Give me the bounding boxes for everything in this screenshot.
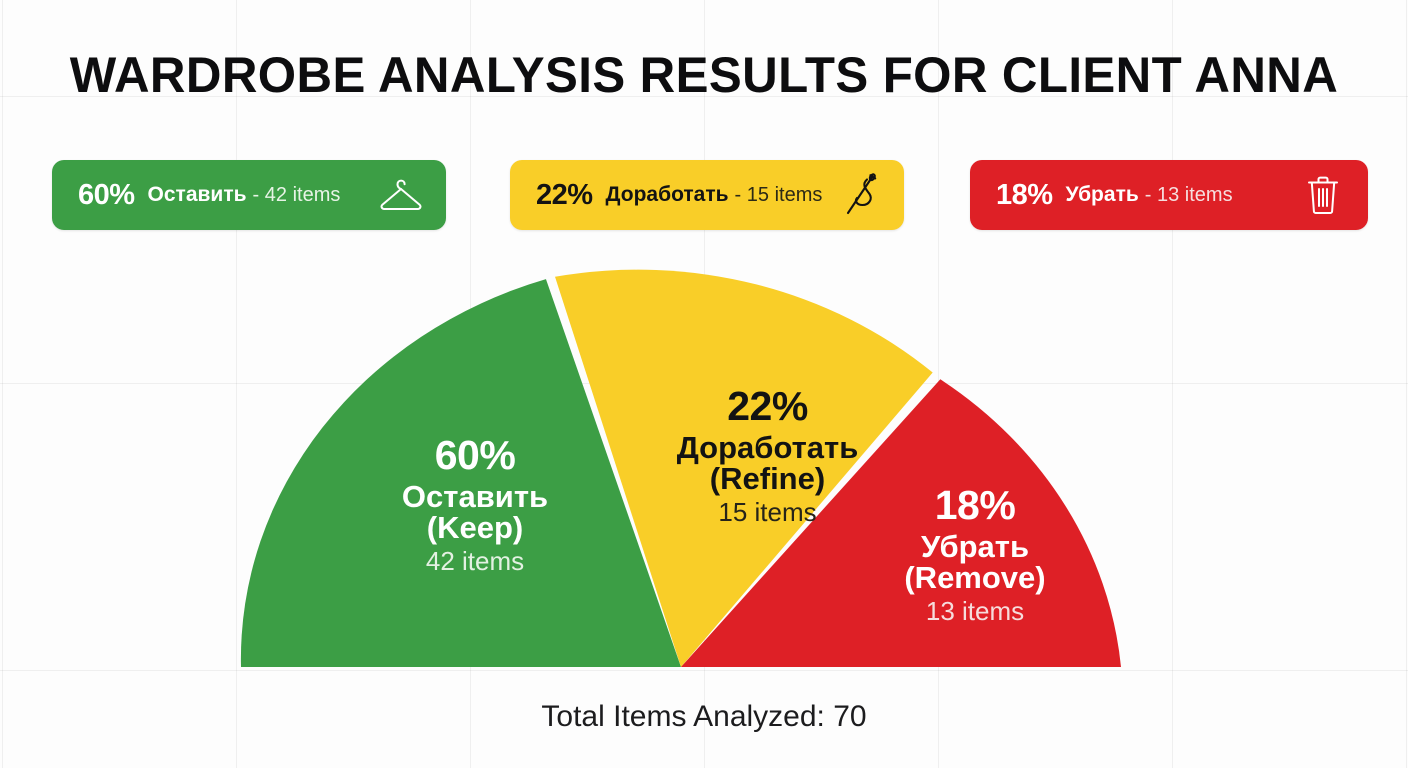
segment-count: 15 items xyxy=(645,499,890,526)
clothes-hanger-icon xyxy=(378,172,424,218)
segment-percent: 60% xyxy=(345,435,605,477)
page-title: WARDROBE ANALYSIS RESULTS FOR CLIENT ANN… xyxy=(11,44,1398,106)
chart-segments xyxy=(241,270,1121,667)
segment-label-refine: 22% Доработать (Refine) 15 items xyxy=(645,386,890,526)
segment-name: Убрать xyxy=(865,531,1085,563)
legend-label: Доработать xyxy=(606,183,729,207)
segment-name: Доработать xyxy=(645,432,890,464)
segment-remove[interactable] xyxy=(681,379,1121,667)
legend-count: - 42 items xyxy=(253,184,341,207)
legend-badge-refine[interactable]: 22% Доработать - 15 items xyxy=(510,160,904,230)
segment-label-remove: 18% Убрать (Remove) 13 items xyxy=(865,485,1085,625)
legend-label: Убрать xyxy=(1066,183,1139,207)
segment-percent: 22% xyxy=(645,386,890,428)
legend: 60% Оставить - 42 items 22% Доработать -… xyxy=(0,160,1408,230)
legend-badge-remove[interactable]: 18% Убрать - 13 items xyxy=(970,160,1368,230)
background-grid xyxy=(0,0,1408,768)
segment-refine[interactable] xyxy=(555,270,933,667)
segment-name-en: (Refine) xyxy=(645,463,890,495)
legend-count: - 13 items xyxy=(1145,184,1233,207)
legend-count: - 15 items xyxy=(735,184,823,207)
needle-and-thread-icon xyxy=(836,172,882,218)
segment-keep[interactable] xyxy=(241,279,681,667)
semicircle-chart: 60% Оставить (Keep) 42 items 22% Доработ… xyxy=(0,0,1408,768)
segment-name-en: (Remove) xyxy=(865,562,1085,594)
segment-count: 42 items xyxy=(345,548,605,575)
trash-bin-icon xyxy=(1300,172,1346,218)
legend-percent: 22% xyxy=(536,179,593,212)
total-items-summary: Total Items Analyzed: 70 xyxy=(0,700,1408,734)
segment-count: 13 items xyxy=(865,598,1085,625)
segment-name: Оставить xyxy=(345,481,605,513)
legend-label: Оставить xyxy=(148,183,247,207)
legend-percent: 18% xyxy=(996,179,1053,212)
segment-label-keep: 60% Оставить (Keep) 42 items xyxy=(345,435,605,575)
chart-svg xyxy=(0,0,1408,768)
infographic-canvas: WARDROBE ANALYSIS RESULTS FOR CLIENT ANN… xyxy=(0,0,1408,768)
segment-name-en: (Keep) xyxy=(345,512,605,544)
legend-badge-keep[interactable]: 60% Оставить - 42 items xyxy=(52,160,446,230)
legend-percent: 60% xyxy=(78,179,135,212)
segment-percent: 18% xyxy=(865,485,1085,527)
